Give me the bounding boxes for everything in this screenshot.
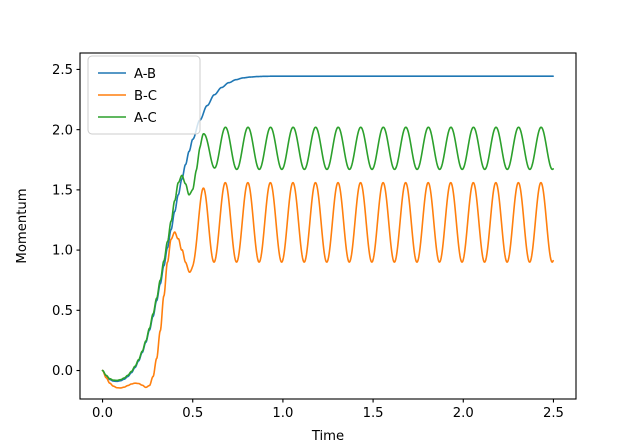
x-tick-label: 2.0 <box>453 406 474 421</box>
x-tick-label: 1.0 <box>272 406 293 421</box>
line-chart: 0.00.51.01.52.02.5 0.00.51.01.52.02.5 Ti… <box>0 0 640 447</box>
y-tick-label: 2.5 <box>52 63 73 78</box>
legend-label-a-c: A-C <box>134 111 157 126</box>
legend-label-a-b: A-B <box>134 67 156 82</box>
y-axis-label: Momentum <box>15 188 30 263</box>
y-tick-label: 1.0 <box>52 244 73 259</box>
y-tick-label: 0.5 <box>52 304 73 319</box>
legend[interactable]: A-BB-CA-C <box>88 56 200 134</box>
y-tick-label: 0.0 <box>52 364 73 379</box>
matplotlib-figure: 0.00.51.01.52.02.5 0.00.51.01.52.02.5 Ti… <box>0 0 640 447</box>
x-tick-label: 1.5 <box>363 406 384 421</box>
legend-label-b-c: B-C <box>134 89 157 104</box>
x-tick-label: 0.0 <box>92 406 113 421</box>
x-tick-label: 2.5 <box>543 406 564 421</box>
y-tick-label: 1.5 <box>52 183 73 198</box>
x-tick-label: 0.5 <box>182 406 203 421</box>
y-tick-label: 2.0 <box>52 123 73 138</box>
x-axis-label: Time <box>311 429 344 444</box>
